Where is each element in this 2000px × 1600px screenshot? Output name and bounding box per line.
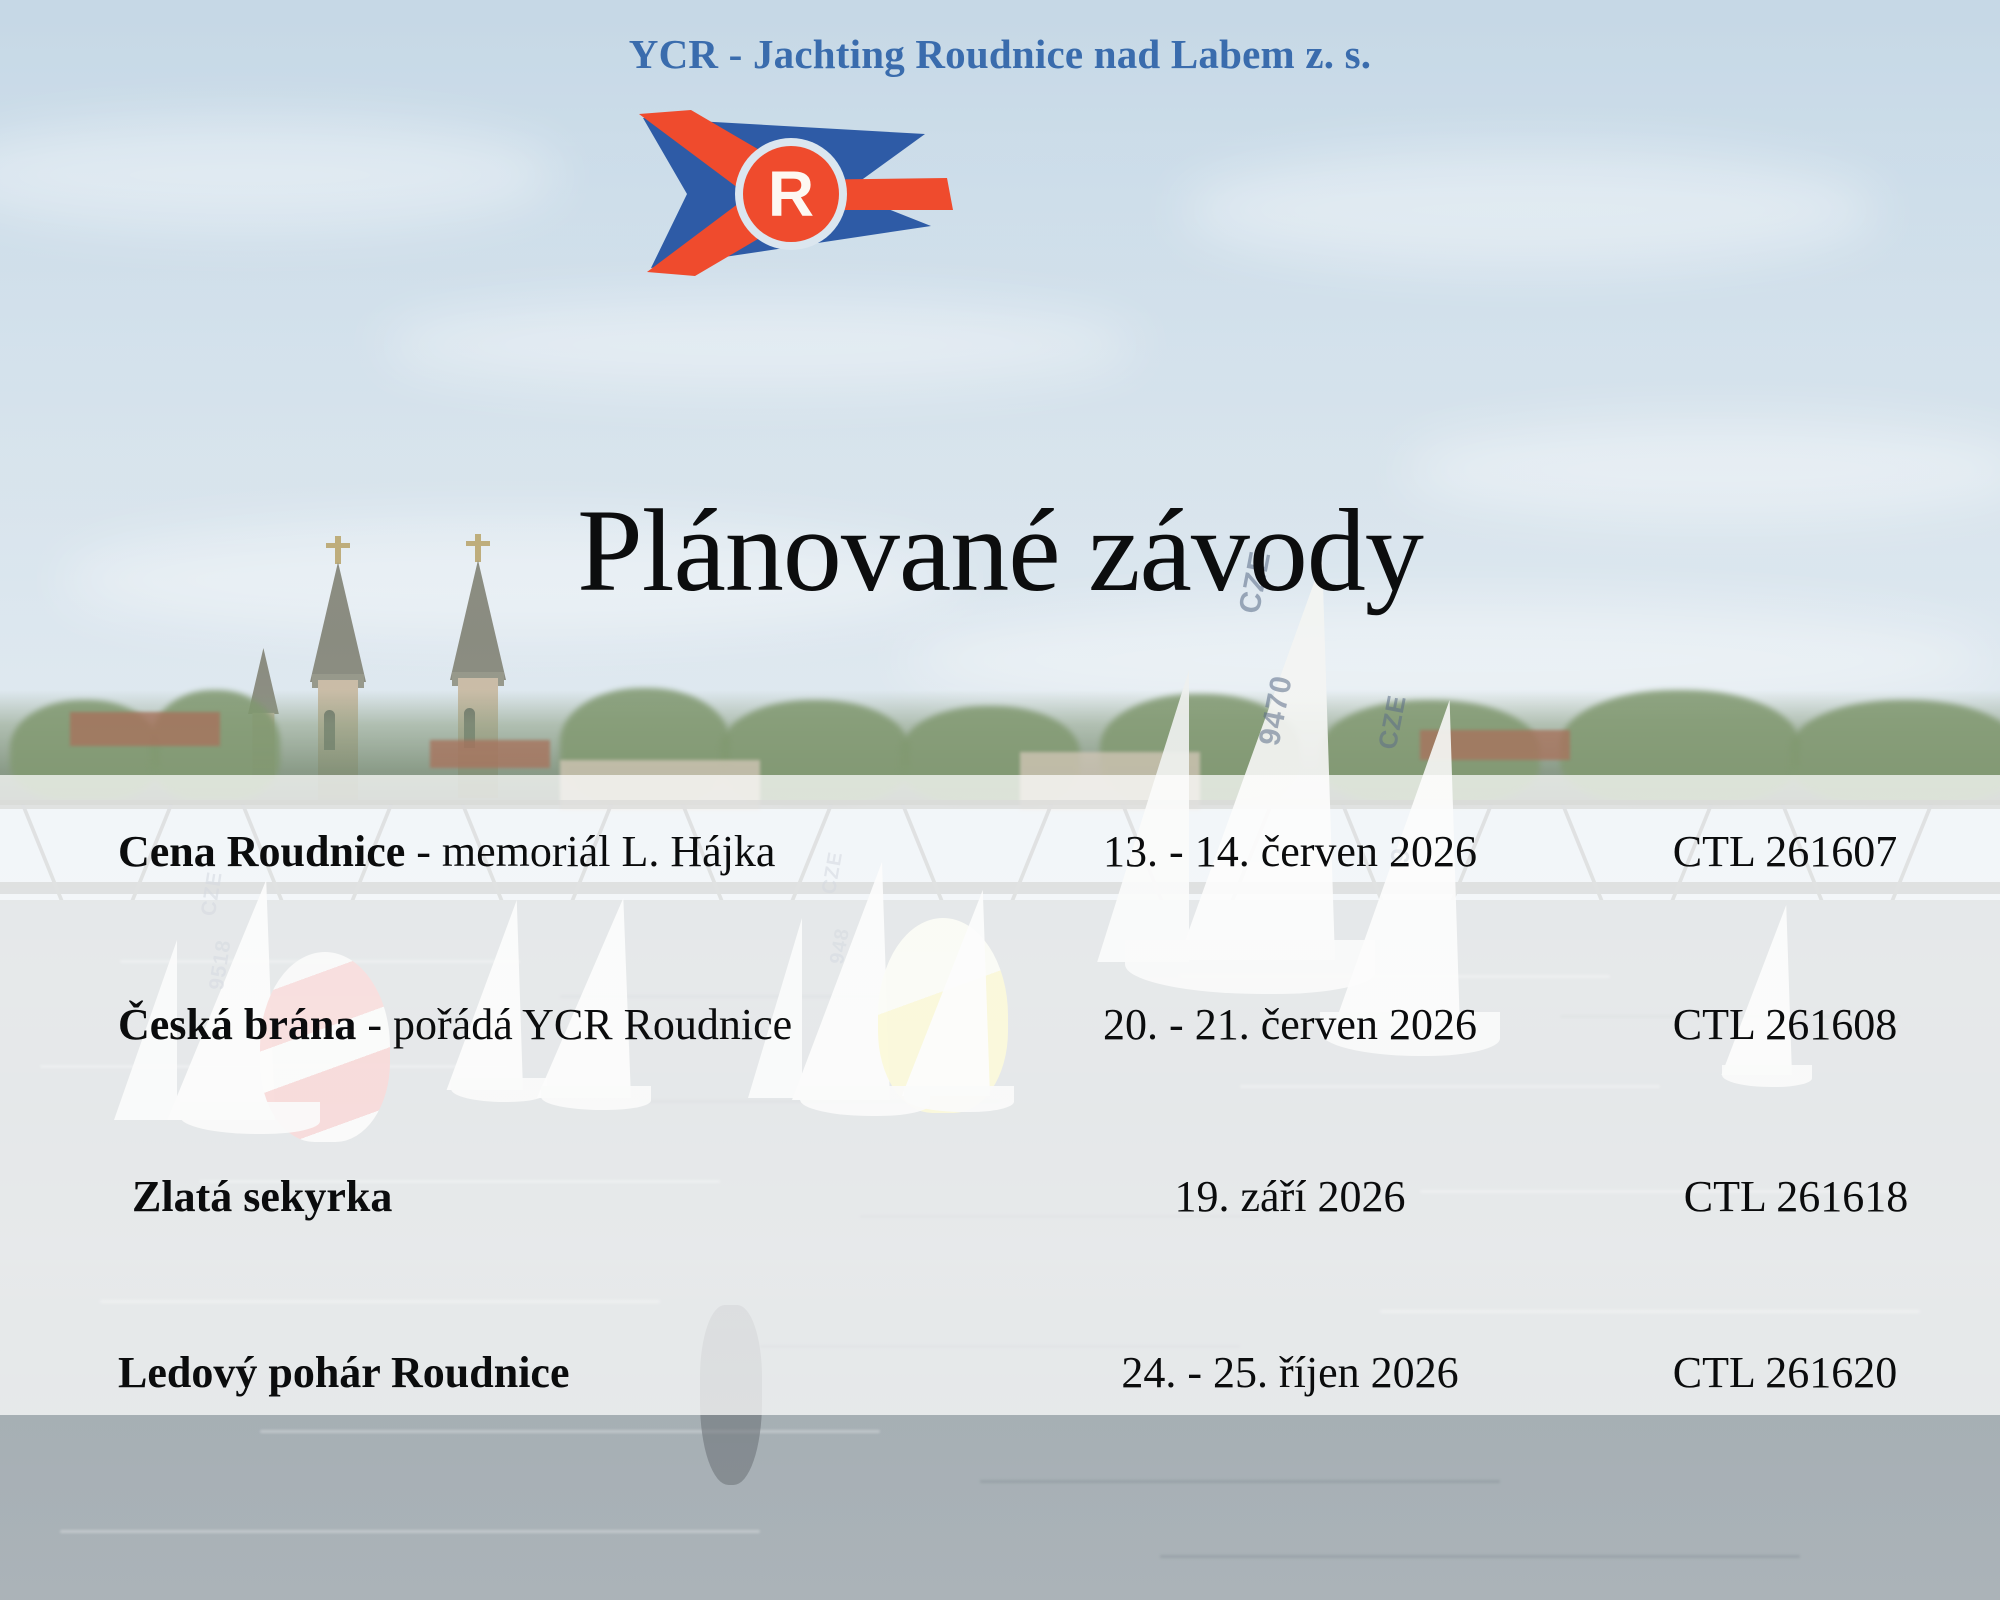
race-name-main: Cena Roudnice (118, 827, 405, 876)
race-code-cell: CTL 261620 (1570, 1351, 2000, 1395)
club-logo: R (595, 100, 955, 280)
race-name-cell: Zlatá sekyrka (0, 1175, 1010, 1219)
race-code-cell: CTL 261608 (1570, 1003, 2000, 1047)
poster-root: CZE 9518 CZE 948 CZE (0, 0, 2000, 1600)
race-code-cell: CTL 261618 (1570, 1175, 2000, 1219)
table-row: Ledový pohár Roudnice 24. - 25. říjen 20… (0, 1351, 2000, 1395)
race-name-sub: - memoriál L. Hájka (405, 827, 775, 876)
table-row: Česká brána - pořádá YCR Roudnice 20. - … (0, 1003, 2000, 1047)
page-title: Plánované závody (0, 492, 2000, 610)
race-name-main: Ledový pohár Roudnice (118, 1348, 570, 1397)
race-date-cell: 24. - 25. říjen 2026 (1010, 1351, 1570, 1395)
race-name-cell: Ledový pohár Roudnice (0, 1351, 1010, 1395)
table-row: Cena Roudnice - memoriál L. Hájka 13. - … (0, 830, 2000, 874)
club-name: YCR - Jachting Roudnice nad Labem z. s. (0, 30, 2000, 78)
race-name-cell: Cena Roudnice - memoriál L. Hájka (0, 830, 1010, 874)
race-date-cell: 13. - 14. červen 2026 (1010, 830, 1570, 874)
race-name-sub: - pořádá YCR Roudnice (356, 1000, 792, 1049)
race-name-main: Česká brána (118, 1000, 356, 1049)
race-date-cell: 20. - 21. červen 2026 (1010, 1003, 1570, 1047)
table-row: Zlatá sekyrka 19. září 2026 CTL 261618 (0, 1175, 2000, 1219)
burgee-flag-icon: R (595, 100, 955, 280)
race-name-main: Zlatá sekyrka (132, 1172, 392, 1221)
race-code-cell: CTL 261607 (1570, 830, 2000, 874)
race-name-cell: Česká brána - pořádá YCR Roudnice (0, 1003, 1010, 1047)
schedule-panel: Cena Roudnice - memoriál L. Hájka 13. - … (0, 775, 2000, 1415)
logo-letter-r: R (768, 158, 814, 230)
race-date-cell: 19. září 2026 (1010, 1175, 1570, 1219)
